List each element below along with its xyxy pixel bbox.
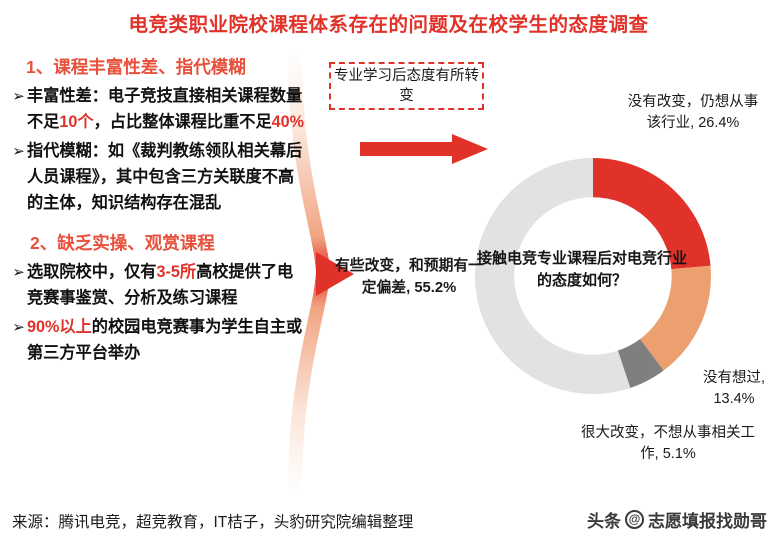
chart-label-some-change: 有些改变，和预期有一定偏差, 55.2%: [334, 255, 484, 299]
bullet-arrow-icon: ➢: [10, 259, 27, 285]
section-2-heading: 2、缺乏实操、观赏课程: [30, 230, 308, 255]
chart-center-label: 接触电竞专业课程后对电竞行业的态度如何？: [472, 248, 692, 292]
chart-label-no-change: 没有改变，仍想从事该行业, 26.4%: [627, 92, 759, 134]
page-title: 电竞类职业院校课程体系存在的问题及在校学生的态度调查: [0, 8, 777, 37]
bullet-text: 指代模糊：如《裁判教练领队相关幕后人员课程》，其中包含三方关联度不高的主体，知识…: [27, 138, 308, 216]
list-item: ➢ 指代模糊：如《裁判教练领队相关幕后人员课程》，其中包含三方关联度不高的主体，…: [10, 138, 308, 216]
source-note: 来源：腾讯电竞，超竞教育，IT桔子，头豹研究院编辑整理: [12, 510, 413, 532]
chart-label-big-change: 很大改变，不想从事相关工作, 5.1%: [578, 423, 758, 465]
watermark-prefix: 头条: [587, 507, 621, 532]
bullet-arrow-icon: ➢: [10, 83, 27, 109]
callout-box: 专业学习后态度有所转变: [329, 62, 484, 110]
watermark: 头条 @ 志愿填报找勋哥: [587, 507, 767, 532]
left-content-column: 1、课程丰富性差、指代模糊 ➢ 丰富性差：电子竞技直接相关课程数量不足10个，占…: [8, 48, 308, 368]
bullet-text: 丰富性差：电子竞技直接相关课程数量不足10个，占比整体课程比重不足40%: [27, 83, 308, 135]
list-item: ➢ 丰富性差：电子竞技直接相关课程数量不足10个，占比整体课程比重不足40%: [10, 83, 308, 135]
list-item: ➢ 90%以上的校园电竞赛事为学生自主或第三方平台举办: [10, 314, 308, 366]
section-1-heading: 1、课程丰富性差、指代模糊: [26, 54, 308, 79]
watermark-name: 志愿填报找勋哥: [648, 507, 767, 532]
chart-label-never-thought: 没有想过, 13.4%: [688, 368, 777, 410]
at-icon: @: [625, 510, 644, 529]
bullet-arrow-icon: ➢: [10, 314, 27, 340]
bullet-text: 选取院校中，仅有3-5所高校提供了电竞赛事鉴赏、分析及练习课程: [27, 259, 308, 311]
list-item: ➢ 选取院校中，仅有3-5所高校提供了电竞赛事鉴赏、分析及练习课程: [10, 259, 308, 311]
slide-canvas: 电竞类职业院校课程体系存在的问题及在校学生的态度调查 1、课程丰富性差、指代模糊…: [0, 0, 777, 546]
callout-text: 专业学习后态度有所转变: [331, 66, 482, 106]
bullet-text: 90%以上的校园电竞赛事为学生自主或第三方平台举办: [27, 314, 308, 366]
bullet-arrow-icon: ➢: [10, 138, 27, 164]
